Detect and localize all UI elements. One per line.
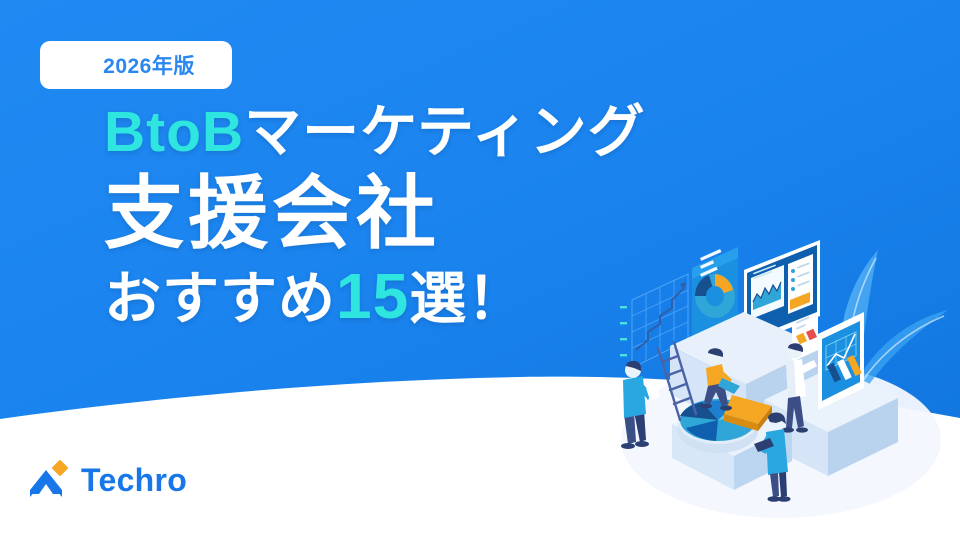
headline-count-accent: 15 [336, 260, 409, 332]
year-badge: 2026年版 [40, 41, 232, 89]
isometric-business-analytics-illustration [596, 228, 960, 528]
techro-chevron-icon [28, 460, 70, 500]
headline-line-2: 支援会社 [104, 168, 646, 260]
hero-banner: 2026年版 BtoBマーケティング 支援会社 おすすめ15選！ [0, 0, 960, 540]
headline-line-3-suffix: 選！ [409, 267, 525, 331]
orange-diamond-icon [52, 460, 69, 476]
headline-block: BtoBマーケティング 支援会社 おすすめ15選！ [0, 96, 646, 335]
headline-line-1: BtoBマーケティング [104, 96, 646, 168]
checklist-widget [788, 254, 813, 314]
techro-logo-text: Techro [81, 463, 187, 497]
headline-line-3: おすすめ15選！ [104, 260, 646, 335]
donut-chart-icon [695, 274, 735, 318]
headline-accent-btob: BtoB [104, 100, 244, 164]
techro-logo[interactable]: Techro [28, 458, 187, 502]
headline-line-1-rest: マーケティング [244, 100, 645, 164]
headline-line-3-prefix: おすすめ [104, 267, 336, 331]
year-badge-label: 2026年版 [77, 50, 195, 80]
